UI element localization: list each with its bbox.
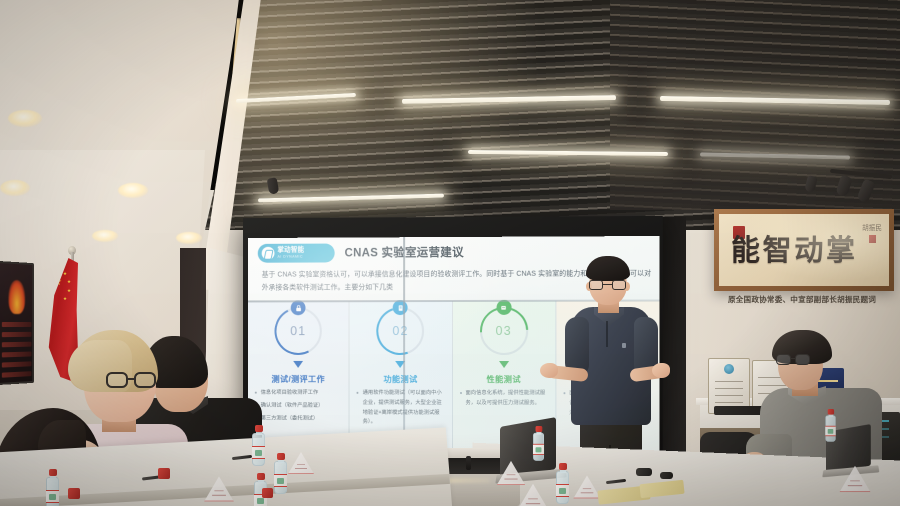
remote-control[interactable] <box>636 468 652 476</box>
plaque-line <box>715 381 744 382</box>
calligraphy-paper: 掌 动 智 能 胡振民 <box>719 214 889 286</box>
name-card-tent-2 <box>204 476 234 501</box>
downlight-1 <box>8 110 42 127</box>
plaque-line <box>715 388 744 389</box>
gauge-icon <box>496 300 511 315</box>
calligraphy-frame: 掌 动 智 能 胡振民 <box>714 209 894 291</box>
lock-icon <box>291 300 306 315</box>
calligraphy-signature: 胡振民 <box>861 224 883 243</box>
presenter-right-hand <box>652 363 670 378</box>
calligraphy-char-4: 能 <box>731 236 760 265</box>
column-2-bullets: 通用软件功能测试（可以面向中小企业，提供测试服务，大型企业驻地验证+离岸模式提供… <box>357 389 446 431</box>
flag-star-1: ★ <box>63 272 67 277</box>
presenter-polo-placket <box>606 321 608 347</box>
marker-cap-3[interactable] <box>262 488 273 498</box>
column-2-heading: 功能测试 <box>350 373 452 385</box>
water-bottle-5[interactable] <box>556 462 569 504</box>
name-card-tent-4 <box>517 484 548 506</box>
gauge-icon-glyph <box>500 303 508 311</box>
name-card-tent-5 <box>573 475 600 498</box>
flame-graphic-icon <box>8 280 25 314</box>
list-item: 信息化项目验收测评工作 <box>255 389 343 399</box>
column-3-heading: 性能测试 <box>452 373 555 385</box>
display-row-5 <box>2 361 32 367</box>
water-bottle-6[interactable] <box>533 425 544 461</box>
water-bottle-7[interactable] <box>825 408 835 442</box>
column-1-bullets: 信息化项目验收测评工作 确认测试（软件产品验证） 第三方测试（委托测试） <box>255 389 343 427</box>
list-item: 确认测试（软件产品验证） <box>255 401 343 411</box>
attendee-blond-eyeglasses <box>106 372 156 389</box>
clicker[interactable] <box>660 472 673 479</box>
list-item: 第三方测试（委托测试） <box>255 414 343 424</box>
calligraphy-caption: 原全国政协常委、中宣部副部长胡振民题词 <box>702 294 900 305</box>
presenter-left-hand <box>540 363 558 378</box>
brand-name-cn: 掌动智能 <box>277 248 304 255</box>
calligraphy-char-2: 动 <box>794 236 823 265</box>
brand-text: 掌动智能 AI DYNAMIC <box>277 248 304 259</box>
plaque-line <box>715 402 744 403</box>
water-bottle-2[interactable] <box>274 452 287 494</box>
award-seal-icon <box>724 364 734 374</box>
column-1-number: 01 <box>275 324 322 338</box>
display-row-6 <box>2 371 32 378</box>
water-bottle-1[interactable] <box>252 424 265 466</box>
column-1-ring: 01 <box>275 307 322 355</box>
marker-cap-2[interactable] <box>68 488 80 499</box>
slide-brand-logo: 掌动智能 AI DYNAMIC <box>258 244 335 263</box>
display-row-1 <box>2 322 32 327</box>
column-2-ring: 02 <box>377 307 425 355</box>
marker-cap-1[interactable] <box>158 468 170 479</box>
downlight-5 <box>176 232 202 244</box>
column-3-ring: 03 <box>480 307 528 355</box>
display-row-4 <box>2 352 32 358</box>
name-card-tent-1 <box>288 452 314 474</box>
brand-mark-icon <box>262 247 275 260</box>
brand-name-en: AI DYNAMIC <box>277 255 304 259</box>
column-2-number: 02 <box>377 324 425 338</box>
calligraphy-char-3: 智 <box>763 236 792 265</box>
column-1-arrow-icon <box>293 361 303 368</box>
presenter-eyeglasses <box>589 280 626 291</box>
downlight-2 <box>0 180 30 196</box>
flag-star-2: ★ <box>67 280 71 285</box>
list-item: 通用软件功能测试（可以面向中小企业，提供测试服务，大型企业驻地验证+离岸模式提供… <box>357 389 446 428</box>
document-icon <box>393 300 408 315</box>
conference-room-scene: 掌 动 智 能 胡振民 原全国政协常委、中宣部副部长胡振民题词 ★ ★ ★ ★ … <box>0 0 900 506</box>
name-card-tent-6 <box>839 466 870 492</box>
column-3-arrow-icon <box>499 361 509 368</box>
signature-seal <box>869 235 876 243</box>
display-row-3 <box>2 342 32 348</box>
presenter-shirt-logo <box>622 343 626 348</box>
lock-icon-glyph <box>294 304 302 312</box>
signature-text: 胡振民 <box>862 224 882 232</box>
list-item: 面向信息化系统，提供性能测试服务，以及可提供压力测试服务。 <box>459 389 549 409</box>
flag-star-3: ★ <box>67 289 71 294</box>
column-3-bullets: 面向信息化系统，提供性能测试服务，以及可提供压力测试服务。 <box>459 389 549 412</box>
microphone-3[interactable] <box>466 456 471 470</box>
plaque-line <box>715 395 744 396</box>
downlight-4 <box>92 230 118 242</box>
calligraphy-char-1: 掌 <box>826 236 855 265</box>
display-row-2 <box>2 332 32 337</box>
column-3-number: 03 <box>480 324 528 338</box>
water-bottle-4[interactable] <box>46 468 59 506</box>
name-card-tent-3 <box>497 461 526 485</box>
attendee-grey-eyeglasses <box>776 354 810 366</box>
flag-star-4: ★ <box>63 297 67 302</box>
calligraphy-characters: 掌 动 智 能 <box>731 222 855 278</box>
honor-wall-display[interactable] <box>0 261 34 385</box>
right-slat-shadow <box>610 0 900 210</box>
downlight-3 <box>118 183 148 198</box>
presenter-hair <box>586 256 630 281</box>
